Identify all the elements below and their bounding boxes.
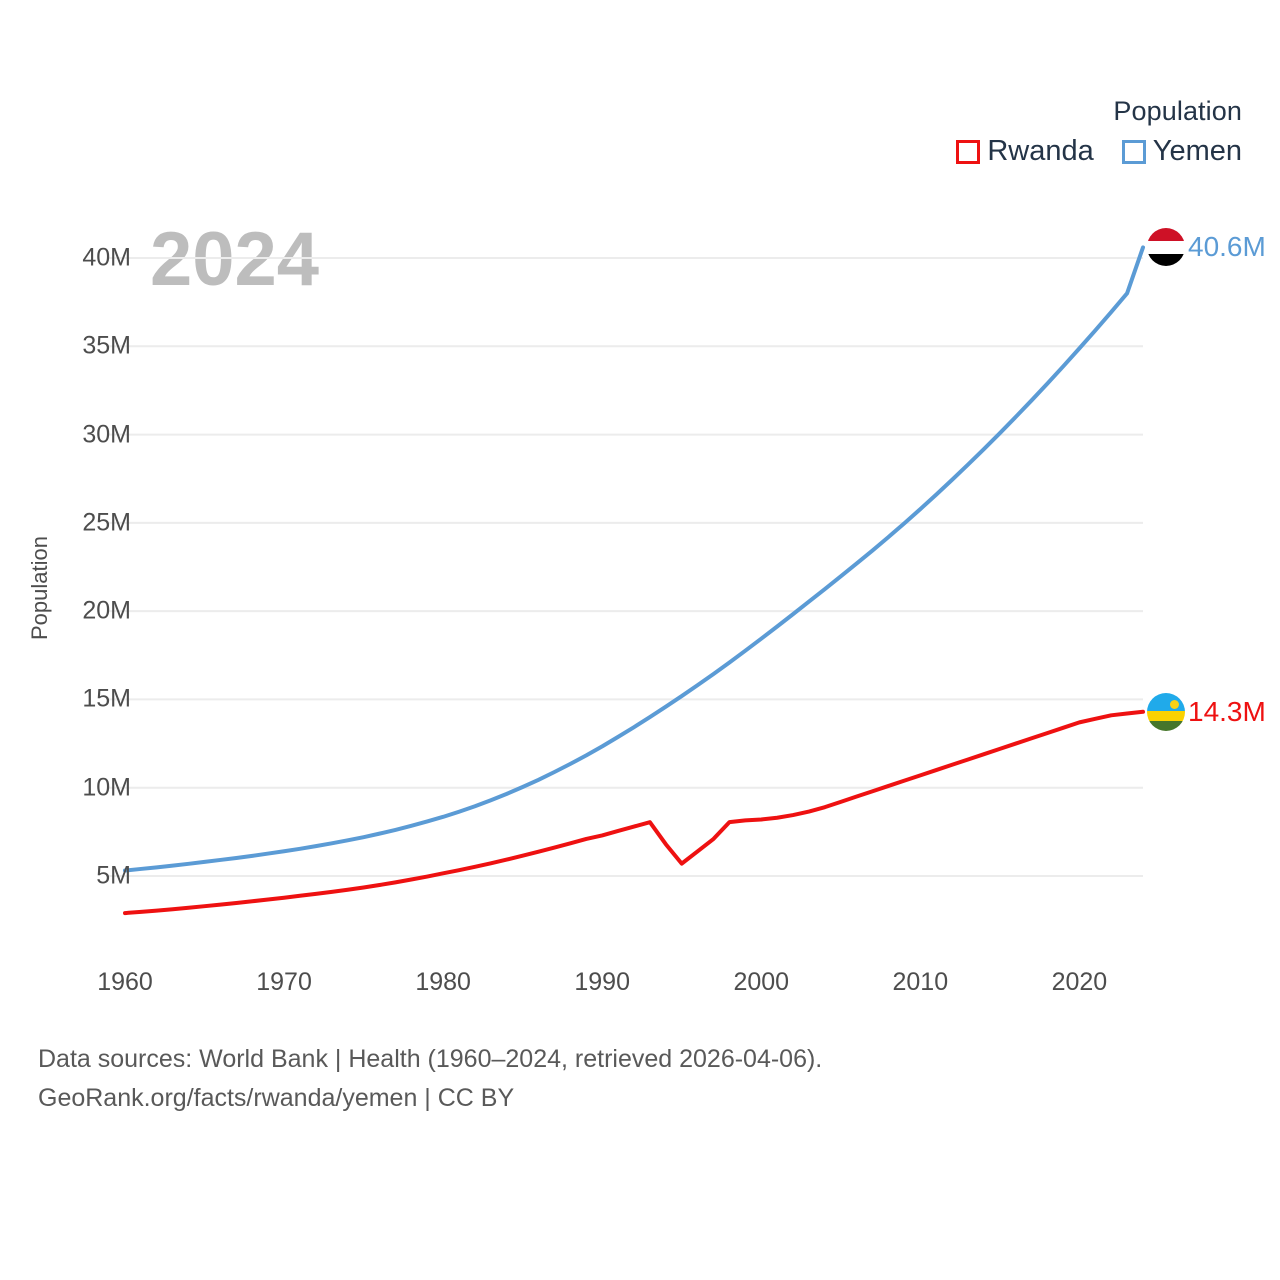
x-axis-tick-label: 2000 (733, 968, 789, 997)
footer-attribution: Data sources: World Bank | Health (1960–… (38, 1040, 822, 1118)
x-axis-tick-label: 1990 (574, 968, 630, 997)
chart-page: Population Rwanda Yemen 2024 5M10M15M20M… (0, 0, 1280, 1280)
flag-band-white (1147, 241, 1185, 254)
rwanda-flag-icon (1147, 693, 1185, 731)
y-axis-tick-label: 5M (96, 862, 131, 891)
yemen-flag-icon (1147, 228, 1185, 266)
flag-sun-icon (1170, 700, 1179, 709)
x-axis-tick-label: 2020 (1052, 968, 1108, 997)
y-axis-tick-label: 20M (82, 597, 131, 626)
y-axis-title: Population (27, 508, 53, 668)
x-axis-tick-label: 2010 (893, 968, 949, 997)
series-line-rwanda (125, 712, 1143, 913)
footer-line-url: GeoRank.org/facts/rwanda/yemen | CC BY (38, 1079, 822, 1118)
y-axis-tick-label: 25M (82, 508, 131, 537)
footer-line-sources: Data sources: World Bank | Health (1960–… (38, 1040, 822, 1079)
rwanda-value-label: 14.3M (1188, 696, 1266, 728)
x-axis-tick-label: 1970 (256, 968, 312, 997)
yemen-value-label: 40.6M (1188, 231, 1266, 263)
y-axis-tick-label: 15M (82, 685, 131, 714)
y-axis-tick-label: 40M (82, 244, 131, 273)
y-axis-tick-label: 10M (82, 773, 131, 802)
y-axis-tick-label: 35M (82, 332, 131, 361)
y-axis-tick-label: 30M (82, 420, 131, 449)
series-line-yemen (125, 247, 1143, 870)
x-axis-tick-label: 1960 (97, 968, 153, 997)
gridlines (107, 258, 1143, 876)
x-axis-tick-label: 1980 (415, 968, 471, 997)
